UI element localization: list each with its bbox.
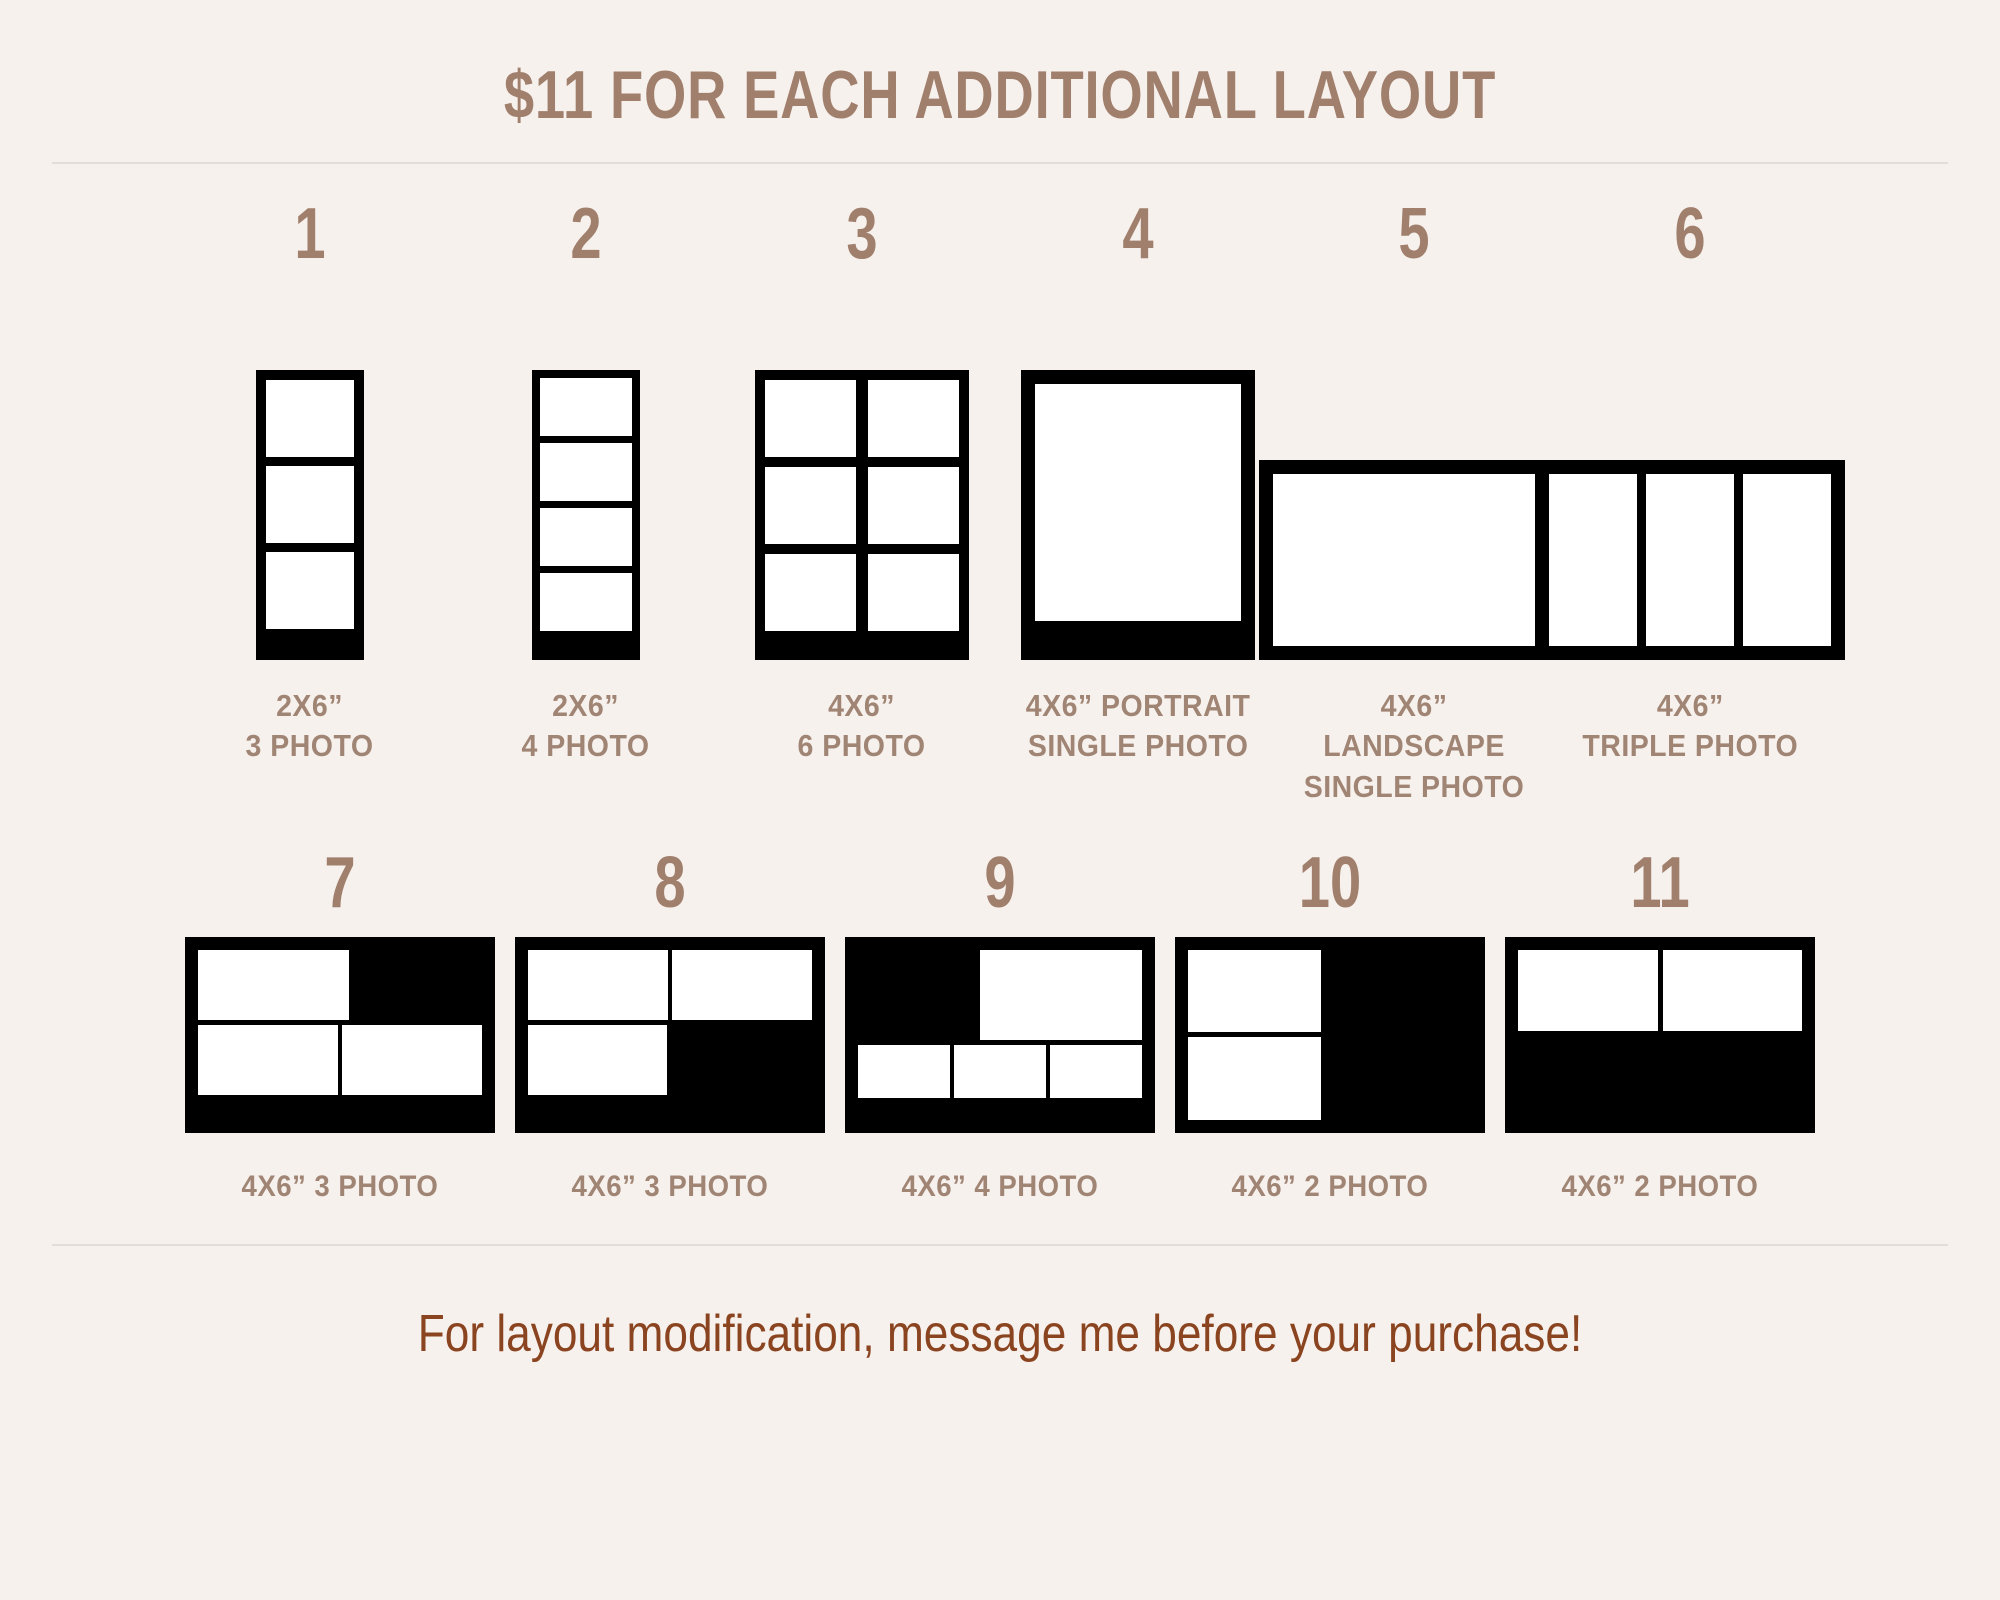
photo-slot xyxy=(1050,1045,1142,1098)
photo-slot xyxy=(528,1025,667,1095)
layout-preview xyxy=(1505,937,1815,1137)
photo-slot xyxy=(1663,950,1803,1031)
layout-price-sheet: $11 FOR EACH ADDITIONAL LAYOUT 1 2X6” 3 … xyxy=(0,0,2000,1600)
photo-slot xyxy=(1188,1037,1321,1120)
layout-number: 2 xyxy=(570,198,601,270)
layout-option-11[interactable]: 11 4X6” 2 PHOTO xyxy=(1510,847,1810,1206)
photo-row xyxy=(1518,950,1802,1031)
photo-row xyxy=(528,950,812,1020)
layout-caption: 4X6” 6 PHOTO xyxy=(798,686,926,767)
photo-slot xyxy=(1273,474,1555,646)
layout-preview xyxy=(1259,288,1569,660)
empty-slot xyxy=(349,950,482,1020)
layout-caption: 4X6” 4 PHOTO xyxy=(902,1167,1099,1206)
photo-slot xyxy=(198,1025,338,1095)
photo-slot xyxy=(1646,474,1734,646)
strip-frame xyxy=(532,370,640,660)
layout-number: 3 xyxy=(846,198,877,270)
photo-slot xyxy=(868,380,959,457)
layout-caption: 2X6” 4 PHOTO xyxy=(522,686,650,767)
photo-slot xyxy=(868,467,959,544)
layout-preview xyxy=(1535,288,1845,660)
gutter xyxy=(540,436,632,443)
layout-preview xyxy=(256,288,364,660)
layout-option-2[interactable]: 2 2X6” 4 PHOTO xyxy=(462,198,710,767)
layout-number: 1 xyxy=(294,198,325,270)
photo-slot xyxy=(1518,950,1658,1031)
gutter xyxy=(266,457,354,466)
photo-slot xyxy=(540,508,632,566)
collage-frame xyxy=(1175,937,1485,1133)
photo-slot xyxy=(672,950,812,1020)
photo-slot xyxy=(540,443,632,501)
layout-number: 6 xyxy=(1674,198,1705,270)
photo-slot xyxy=(266,552,354,629)
photo-row xyxy=(858,950,1142,1040)
layout-option-7[interactable]: 7 4X6” 3 PHOTO xyxy=(190,847,490,1206)
empty-slot xyxy=(667,1025,812,1095)
triple-frame xyxy=(1535,460,1845,660)
layout-caption: 2X6” 3 PHOTO xyxy=(246,686,374,767)
photo-slot xyxy=(868,554,959,631)
photo-slot xyxy=(266,380,354,457)
layout-preview xyxy=(755,288,969,660)
photo-slot xyxy=(1188,950,1321,1033)
photo-row xyxy=(765,467,959,544)
photo-slot xyxy=(1743,474,1831,646)
grid-frame xyxy=(755,370,969,660)
photo-slot xyxy=(540,378,632,436)
layout-caption: 4X6” TRIPLE PHOTO xyxy=(1582,686,1798,767)
layout-number: 11 xyxy=(1630,847,1689,919)
photo-slot xyxy=(528,950,668,1020)
page-title: $11 FOR EACH ADDITIONAL LAYOUT xyxy=(200,0,1800,134)
layout-option-1[interactable]: 1 2X6” 3 PHOTO xyxy=(186,198,434,767)
layout-number: 5 xyxy=(1398,198,1429,270)
layout-option-3[interactable]: 3 xyxy=(738,198,986,767)
empty-slot xyxy=(1321,950,1472,1120)
photo-row xyxy=(765,380,959,457)
layout-caption: 4X6” 3 PHOTO xyxy=(572,1167,769,1206)
photo-row xyxy=(858,1045,1142,1098)
photo-slot xyxy=(540,573,632,631)
layout-option-4[interactable]: 4 4X6” PORTRAIT SINGLE PHOTO xyxy=(1014,198,1262,767)
layout-preview xyxy=(1175,937,1485,1137)
photo-row xyxy=(198,1025,482,1095)
layout-number: 9 xyxy=(984,847,1015,919)
collage-frame xyxy=(845,937,1155,1133)
gutter xyxy=(540,501,632,508)
layout-caption: 4X6” LANDSCAPE SINGLE PHOTO xyxy=(1300,686,1528,807)
collage-frame xyxy=(1505,937,1815,1133)
empty-slot xyxy=(858,950,980,1040)
footer-note: For layout modification, message me befo… xyxy=(150,1246,1850,1364)
layout-preview xyxy=(515,937,825,1137)
layout-grid: 1 2X6” 3 PHOTO 2 xyxy=(0,164,2000,1206)
empty-slot xyxy=(1518,1031,1802,1120)
layout-preview xyxy=(845,937,1155,1137)
layout-option-10[interactable]: 10 4X6” 2 PHOTO xyxy=(1180,847,1480,1206)
collage-frame xyxy=(185,937,495,1133)
gutter xyxy=(266,543,354,552)
gutter xyxy=(765,457,959,467)
photo-slot xyxy=(980,950,1142,1040)
photo-row xyxy=(765,554,959,631)
layout-number: 8 xyxy=(654,847,685,919)
layout-number: 4 xyxy=(1122,198,1153,270)
layout-preview xyxy=(185,937,495,1137)
photo-slot xyxy=(765,554,856,631)
layout-option-9[interactable]: 9 4X6” 4 PHO xyxy=(850,847,1150,1206)
photo-slot xyxy=(1549,474,1637,646)
photo-slot xyxy=(765,467,856,544)
collage-frame xyxy=(515,937,825,1133)
photo-slot xyxy=(858,1045,950,1098)
portrait-frame xyxy=(1021,370,1255,660)
layout-row-1: 1 2X6” 3 PHOTO 2 xyxy=(40,164,1960,807)
layout-option-8[interactable]: 8 4X6” 3 PHOTO xyxy=(520,847,820,1206)
gutter xyxy=(540,566,632,573)
photo-slot xyxy=(765,380,856,457)
layout-option-6[interactable]: 6 4X6” TRIPLE PHOTO xyxy=(1566,198,1814,767)
layout-caption: 4X6” PORTRAIT SINGLE PHOTO xyxy=(1026,686,1251,767)
layout-caption: 4X6” 3 PHOTO xyxy=(242,1167,439,1206)
strip-frame xyxy=(256,370,364,660)
photo-slot xyxy=(1035,384,1241,621)
photo-slot xyxy=(266,466,354,543)
layout-option-5[interactable]: 5 4X6” LANDSCAPE SINGLE PHOTO xyxy=(1290,198,1538,807)
photo-slot xyxy=(954,1045,1046,1098)
layout-caption: 4X6” 2 PHOTO xyxy=(1232,1167,1429,1206)
layout-caption: 4X6” 2 PHOTO xyxy=(1562,1167,1759,1206)
photo-slot xyxy=(342,1025,482,1095)
photo-row xyxy=(198,950,482,1020)
photo-column xyxy=(1188,950,1321,1120)
photo-slot xyxy=(198,950,349,1020)
layout-number: 7 xyxy=(324,847,355,919)
gutter xyxy=(765,544,959,554)
layout-preview xyxy=(532,288,640,660)
layout-preview xyxy=(1021,288,1255,660)
layout-row-2: 7 4X6” 3 PHOTO xyxy=(40,807,1960,1206)
landscape-frame xyxy=(1259,460,1569,660)
layout-number: 10 xyxy=(1299,847,1361,919)
photo-row xyxy=(528,1025,812,1095)
